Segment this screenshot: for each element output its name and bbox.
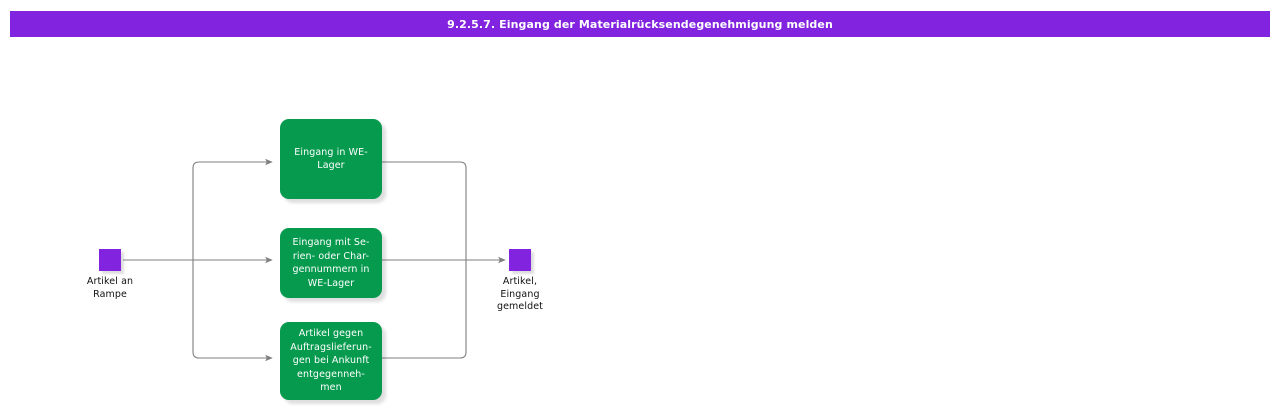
process-flow-diagram: Artikel an Rampe Eingang in WE- Lager Ei… — [0, 0, 1280, 410]
event-marker-icon — [99, 249, 121, 271]
event-node-label: Artikel an Rampe — [87, 276, 133, 301]
function-node-label: Eingang mit Se- rien- oder Char- gennumm… — [292, 236, 369, 290]
connector-function-3-to-merge — [382, 260, 466, 358]
connector-function-1-to-merge — [382, 162, 466, 260]
function-node-artikel-gegen-auftragslieferungen-bei-ankunft-entgegennehmen[interactable]: Artikel gegen Auftragslieferun- gen bei … — [280, 322, 382, 400]
event-node-artikel-an-rampe[interactable]: Artikel an Rampe — [62, 249, 158, 301]
function-node-eingang-in-we-lager[interactable]: Eingang in WE- Lager — [280, 119, 382, 199]
event-node-artikel-eingang-gemeldet[interactable]: Artikel, Eingang gemeldet — [472, 249, 568, 314]
event-marker-icon — [509, 249, 531, 271]
connector-split-to-function-1 — [193, 162, 272, 260]
function-node-label: Artikel gegen Auftragslieferun- gen bei … — [290, 327, 372, 395]
connector-layer — [0, 0, 1280, 410]
connector-split-to-function-3 — [193, 260, 272, 358]
function-node-label: Eingang in WE- Lager — [294, 146, 368, 173]
event-node-label: Artikel, Eingang gemeldet — [497, 276, 543, 314]
function-node-eingang-mit-serien-oder-chargennummern-in-we-lager[interactable]: Eingang mit Se- rien- oder Char- gennumm… — [280, 228, 382, 298]
